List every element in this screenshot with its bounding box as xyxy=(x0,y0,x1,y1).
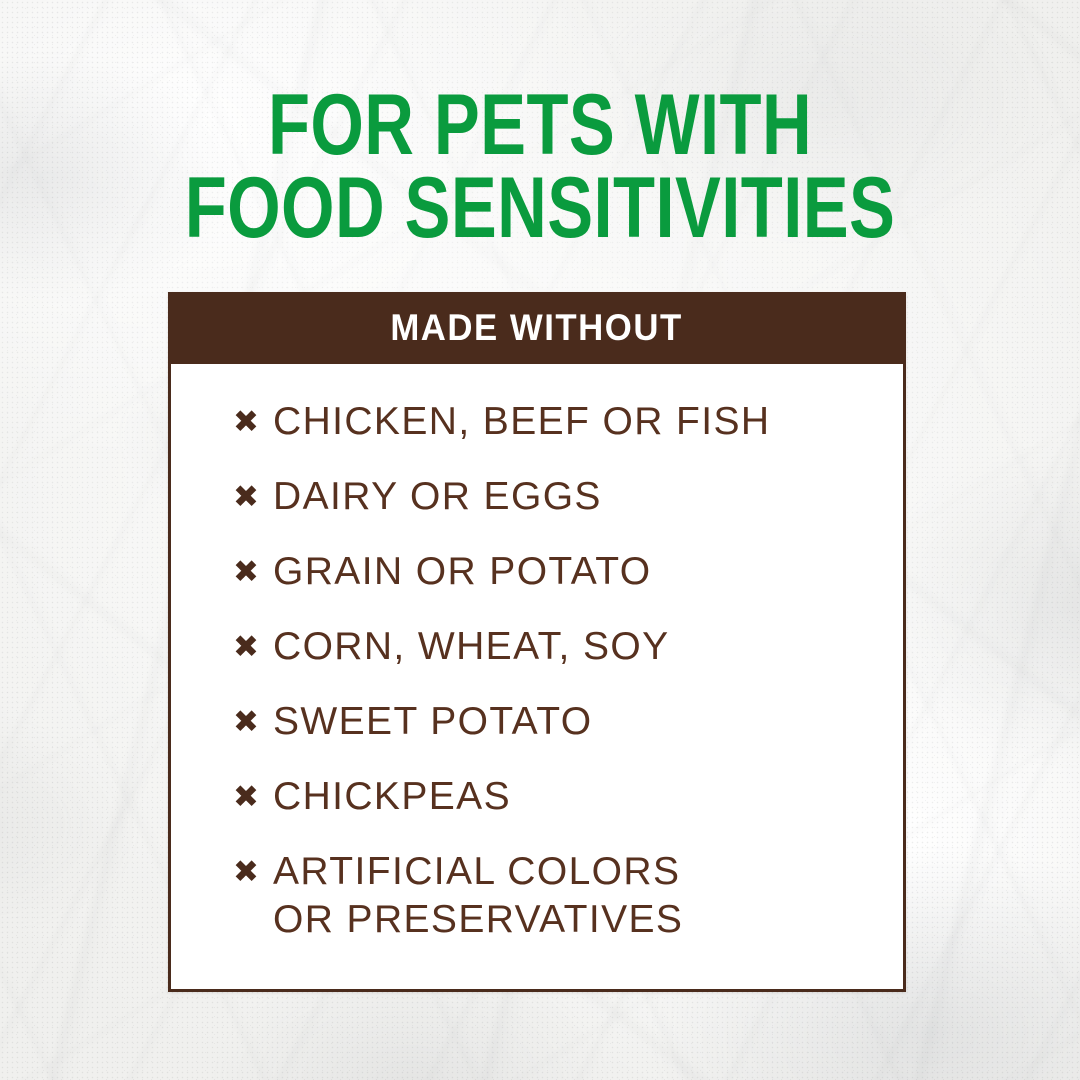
cross-icon: ✖ xyxy=(233,473,273,521)
page-title: FOR PETS WITH FOOD SENSITIVITIES xyxy=(108,84,972,251)
list-item: ✖ DAIRY OR EGGS xyxy=(233,473,873,529)
list-item-label: GRAIN OR POTATO xyxy=(273,548,652,596)
made-without-body: ✖ CHICKEN, BEEF OR FISH ✖ DAIRY OR EGGS … xyxy=(171,364,903,944)
list-item-label: CHICKPEAS xyxy=(273,773,511,821)
poster-canvas: FOR PETS WITH FOOD SENSITIVITIES MADE WI… xyxy=(0,0,1080,1080)
made-without-list: ✖ CHICKEN, BEEF OR FISH ✖ DAIRY OR EGGS … xyxy=(171,398,903,944)
list-item-label: CORN, WHEAT, SOY xyxy=(273,623,670,671)
cross-icon: ✖ xyxy=(233,623,273,671)
cross-icon: ✖ xyxy=(233,773,273,821)
list-item: ✖ GRAIN OR POTATO xyxy=(233,548,873,604)
list-item-label: DAIRY OR EGGS xyxy=(273,473,602,521)
cross-icon: ✖ xyxy=(233,848,273,896)
made-without-header-title: MADE WITHOUT xyxy=(391,307,683,349)
cross-icon: ✖ xyxy=(233,698,273,746)
page-title-line-1: FOR PETS WITH xyxy=(108,84,972,167)
made-without-card: MADE WITHOUT ✖ CHICKEN, BEEF OR FISH ✖ D… xyxy=(168,292,906,992)
cross-icon: ✖ xyxy=(233,398,273,446)
list-item-label: CHICKEN, BEEF OR FISH xyxy=(273,398,770,446)
cross-icon: ✖ xyxy=(233,548,273,596)
page-title-line-2: FOOD SENSITIVITIES xyxy=(108,167,972,250)
list-item: ✖ CHICKEN, BEEF OR FISH xyxy=(233,398,873,454)
list-item-label: SWEET POTATO xyxy=(273,698,592,746)
list-item: ✖ ARTIFICIAL COLORS OR PRESERVATIVES xyxy=(233,848,873,944)
list-item: ✖ CHICKPEAS xyxy=(233,773,873,829)
list-item: ✖ SWEET POTATO xyxy=(233,698,873,754)
list-item: ✖ CORN, WHEAT, SOY xyxy=(233,623,873,679)
made-without-header: MADE WITHOUT xyxy=(168,292,906,364)
list-item-label: ARTIFICIAL COLORS OR PRESERVATIVES xyxy=(273,848,683,944)
